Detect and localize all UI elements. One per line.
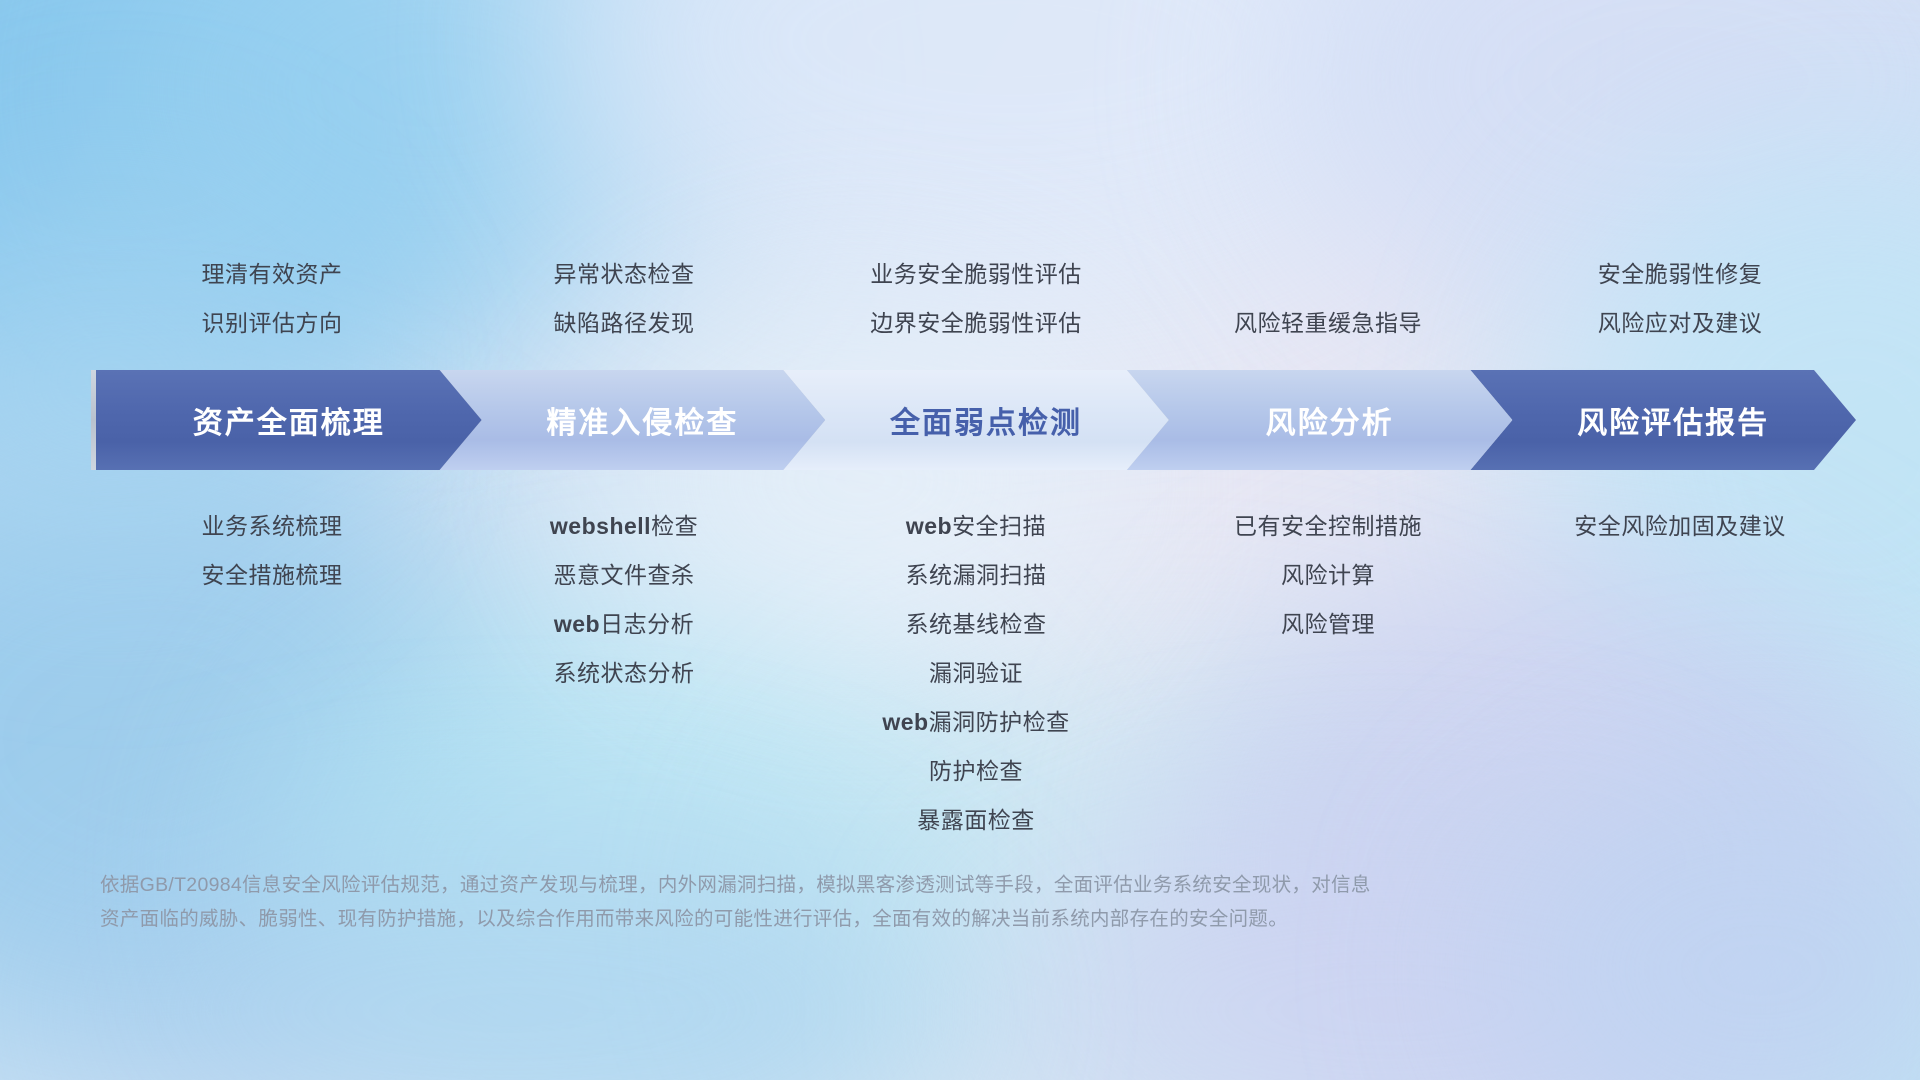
slide-canvas: 理清有效资产识别评估方向异常状态检查缺陷路径发现业务安全脆弱性评估边界安全脆弱性…: [0, 0, 1920, 1080]
footer-description: 依据GB/T20984信息安全风险评估规范，通过资产发现与梳理，内外网漏洞扫描，…: [100, 868, 1620, 936]
top-notes-cell-5: 安全脆弱性修复风险应对及建议: [1504, 228, 1856, 348]
bottom-note-lead: web: [882, 709, 928, 735]
chevron-stage-4[interactable]: 风险分析: [1127, 370, 1513, 470]
chevron-title: 精准入侵检查: [546, 398, 738, 442]
top-note: 边界安全脆弱性评估: [870, 299, 1082, 348]
process-chevron-banner: 资产全面梳理精准入侵检查全面弱点检测风险分析风险评估报告: [96, 370, 1856, 470]
bottom-note-text: 检查: [651, 513, 698, 539]
bottom-notes-cell-4: 已有安全控制措施风险计算风险管理: [1152, 502, 1504, 649]
bottom-note: 安全风险加固及建议: [1574, 502, 1786, 551]
bottom-notes-cell-1: 业务系统梳理安全措施梳理: [96, 502, 448, 600]
bottom-notes-cell-5: 安全风险加固及建议: [1504, 502, 1856, 551]
bottom-note: 恶意文件查杀: [554, 551, 695, 600]
bottom-note: 业务系统梳理: [202, 502, 343, 551]
top-note: 缺陷路径发现: [554, 299, 695, 348]
bottom-note: 安全措施梳理: [202, 551, 343, 600]
bottom-note: web漏洞防护检查: [882, 698, 1069, 747]
top-notes-row: 理清有效资产识别评估方向异常状态检查缺陷路径发现业务安全脆弱性评估边界安全脆弱性…: [96, 228, 1856, 348]
bottom-note: web日志分析: [554, 600, 694, 649]
chevron-stage-5[interactable]: 风险评估报告: [1470, 370, 1856, 470]
chevron-title: 风险分析: [1266, 398, 1394, 442]
top-note: 业务安全脆弱性评估: [870, 250, 1082, 299]
bottom-notes-row: 业务系统梳理安全措施梳理webshell检查恶意文件查杀web日志分析系统状态分…: [96, 502, 1856, 845]
top-notes-cell-4: 风险轻重缓急指导: [1152, 228, 1504, 348]
chevron-stage-3[interactable]: 全面弱点检测: [783, 370, 1169, 470]
bottom-notes-cell-3: web安全扫描系统漏洞扫描系统基线检查漏洞验证web漏洞防护检查防护检查暴露面检…: [800, 502, 1152, 845]
chevron-title: 全面弱点检测: [890, 398, 1082, 442]
chevron-stage-2[interactable]: 精准入侵检查: [440, 370, 826, 470]
footer-line-1: 依据GB/T20984信息安全风险评估规范，通过资产发现与梳理，内外网漏洞扫描，…: [100, 868, 1620, 902]
chevron-title: 资产全面梳理: [193, 398, 385, 442]
top-note: 异常状态检查: [554, 250, 695, 299]
bottom-note: 已有安全控制措施: [1234, 502, 1422, 551]
top-notes-cell-2: 异常状态检查缺陷路径发现: [448, 228, 800, 348]
bottom-note: 系统基线检查: [906, 600, 1047, 649]
chevron-title: 风险评估报告: [1577, 398, 1769, 442]
bottom-note-text: 安全扫描: [952, 513, 1046, 539]
bottom-note: 系统漏洞扫描: [906, 551, 1047, 600]
footer-line-2: 资产面临的威胁、脆弱性、现有防护措施，以及综合作用而带来风险的可能性进行评估，全…: [100, 902, 1620, 936]
chevron-stage-1[interactable]: 资产全面梳理: [96, 370, 482, 470]
bottom-note-lead: webshell: [550, 513, 651, 539]
bottom-note: 防护检查: [929, 747, 1023, 796]
bottom-note-lead: web: [906, 513, 952, 539]
bottom-notes-cell-2: webshell检查恶意文件查杀web日志分析系统状态分析: [448, 502, 800, 698]
bottom-note: 漏洞验证: [929, 649, 1023, 698]
bottom-note-lead: web: [554, 611, 600, 637]
bottom-note: web安全扫描: [906, 502, 1046, 551]
top-note: 理清有效资产: [202, 250, 343, 299]
top-note: 识别评估方向: [202, 299, 343, 348]
bottom-note-text: 漏洞防护检查: [929, 709, 1070, 735]
bottom-note: 风险管理: [1281, 600, 1375, 649]
bottom-note: webshell检查: [550, 502, 698, 551]
top-notes-cell-3: 业务安全脆弱性评估边界安全脆弱性评估: [800, 228, 1152, 348]
top-note: 风险轻重缓急指导: [1234, 299, 1422, 348]
top-note: 安全脆弱性修复: [1598, 250, 1763, 299]
bottom-note: 系统状态分析: [554, 649, 695, 698]
bottom-note-text: 日志分析: [600, 611, 694, 637]
bottom-note: 暴露面检查: [917, 796, 1035, 845]
bottom-note: 风险计算: [1281, 551, 1375, 600]
top-note: 风险应对及建议: [1598, 299, 1763, 348]
top-notes-cell-1: 理清有效资产识别评估方向: [96, 228, 448, 348]
